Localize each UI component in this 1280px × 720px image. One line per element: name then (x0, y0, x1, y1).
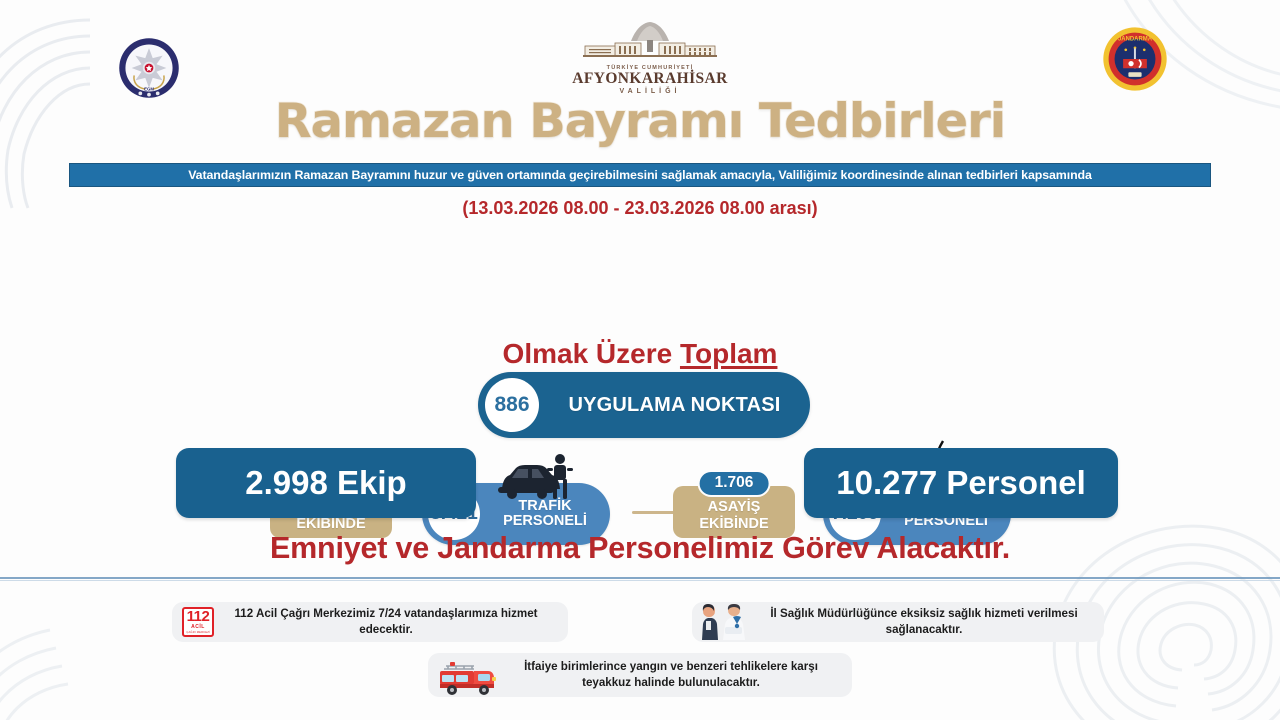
footer-headline: Emniyet ve Jandarma Personelimiz Görev A… (0, 531, 1280, 566)
section-divider (0, 577, 1280, 579)
stats-row: 1.292 TRAFİK EKİBİNDE 3.421 TRAFİK PERSO… (0, 228, 1280, 328)
info-card-112-text: 112 Acil Çağrı Merkezimiz 7/24 vatandaşl… (214, 606, 558, 637)
112-sublabel: ÇAĞRI MERKEZİ (186, 630, 210, 634)
doctors-icon (702, 604, 754, 640)
section-divider-secondary (0, 580, 1280, 581)
banner-text: Vatandaşlarımızın Ramazan Bayramını huzu… (69, 163, 1211, 187)
112-number: 112 (187, 610, 210, 624)
stat-label-line1: TRAFİK (490, 499, 600, 514)
application-points-value: 886 (485, 378, 539, 432)
stat-label-line2: EKİBİNDE (699, 517, 768, 532)
svg-text:JANDARMA: JANDARMA (1118, 37, 1153, 43)
application-points-label: UYGULAMA NOKTASI (539, 395, 810, 415)
toplam-heading: Olmak Üzere Toplam (0, 338, 1280, 370)
police-emblem: EGM (118, 37, 180, 99)
infographic-canvas: EGM TÜRKİYE CUMHURİYETİ AFYONKARAHİSAR V… (0, 0, 1280, 720)
castle-building-illustration (569, 21, 731, 59)
valilik-line2: AFYONKARAHİSAR (569, 71, 731, 87)
info-card-112: 112 ACİL ÇAĞRI MERKEZİ 112 Acil Çağrı Me… (172, 602, 568, 642)
stat-label-traffic-personnel: TRAFİK PERSONELİ (480, 499, 610, 529)
application-points-card: 886 UYGULAMA NOKTASI (478, 372, 810, 438)
total-personnel-box: 10.277 Personel (804, 448, 1118, 518)
jandarma-emblem: JANDARMA (1102, 26, 1168, 92)
curve-watermark-bottom-left (0, 600, 110, 720)
info-card-health: İl Sağlık Müdürlüğünce eksiksiz sağlık h… (692, 602, 1104, 642)
stat-label-line2: EKİBİNDE (296, 517, 365, 532)
total-teams-box: 2.998 Ekip (176, 448, 476, 518)
info-card-fire-text: İtfaiye birimlerince yangın ve benzeri t… (500, 659, 842, 690)
svg-text:EGM: EGM (144, 86, 154, 91)
afyonkarahisar-valiligi-logo: TÜRKİYE CUMHURİYETİ AFYONKARAHİSAR VALİL… (569, 21, 731, 91)
traffic-police-car-icon (496, 453, 574, 501)
toplam-underlined: Toplam (680, 338, 777, 369)
stat-label-line2: PERSONELİ (490, 514, 600, 529)
fire-truck-icon (438, 655, 500, 695)
info-card-fire: İtfaiye birimlerince yangın ve benzeri t… (428, 653, 852, 697)
page-title: Ramazan Bayramı Tedbirleri (0, 94, 1280, 149)
info-card-health-text: İl Sağlık Müdürlüğünce eksiksiz sağlık h… (754, 606, 1094, 637)
date-range: (13.03.2026 08.00 - 23.03.2026 08.00 ara… (0, 198, 1280, 219)
stat-label-line1: ASAYİŞ (708, 500, 761, 515)
stat-value-public-order-teams: 1.706 (698, 470, 771, 497)
toplam-prefix: Olmak Üzere (503, 338, 680, 369)
112-emergency-logo: 112 ACİL ÇAĞRI MERKEZİ (182, 607, 214, 637)
